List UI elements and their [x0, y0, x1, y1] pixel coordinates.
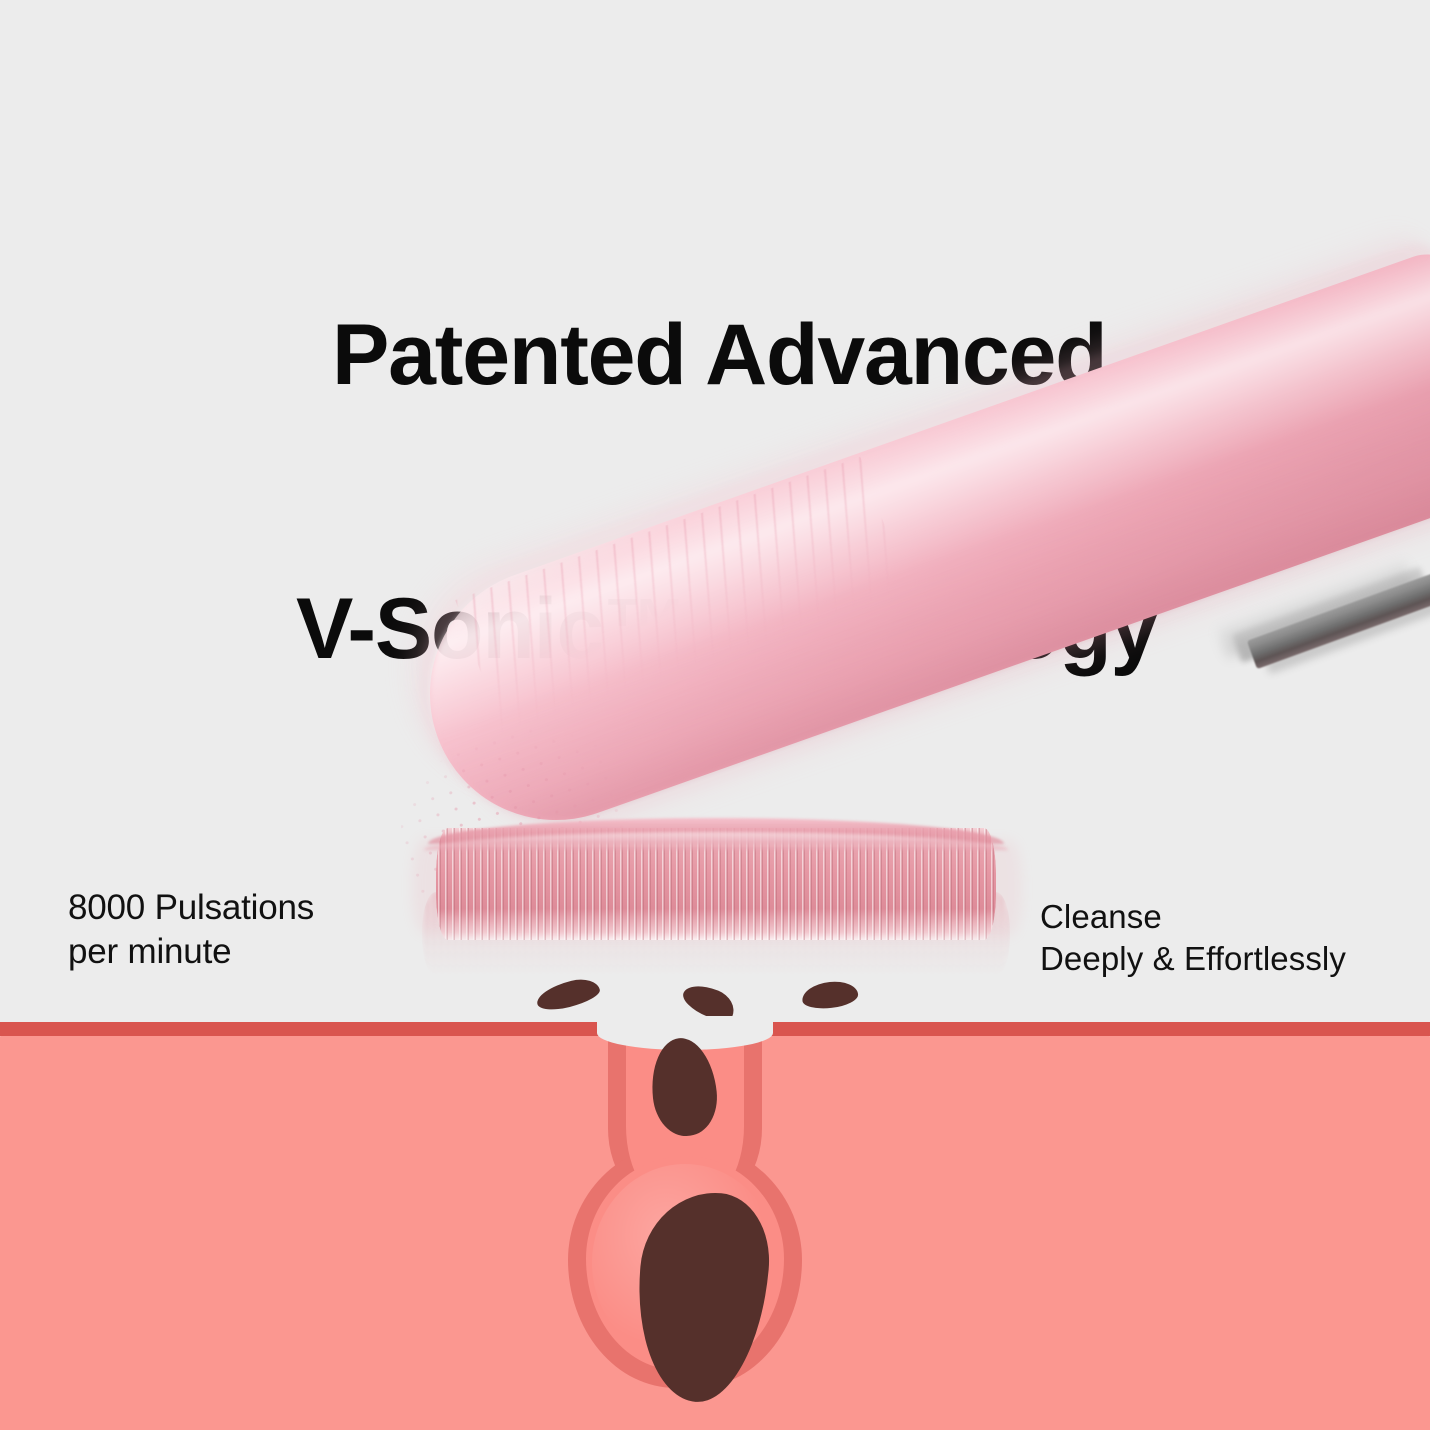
- headline-line-1: Patented Advanced: [296, 310, 1296, 401]
- skin-pore-cross-section: [0, 1022, 1430, 1430]
- page-title: Patented Advanced V-Sonic™ technology: [296, 128, 1296, 857]
- cleanse-caption: Cleanse Deeply & Effortlessly: [1040, 896, 1346, 979]
- dirt-particle-3: [801, 979, 859, 1011]
- infographic-canvas: Patented Advanced V-Sonic™ technology 80…: [0, 0, 1430, 1430]
- dirt-particle-1: [534, 975, 602, 1015]
- headline-line-2: V-Sonic™ technology: [296, 584, 1296, 675]
- pulsations-caption: 8000 Pulsations per minute: [68, 886, 314, 974]
- brush-head-bristle-band: [418, 818, 1018, 968]
